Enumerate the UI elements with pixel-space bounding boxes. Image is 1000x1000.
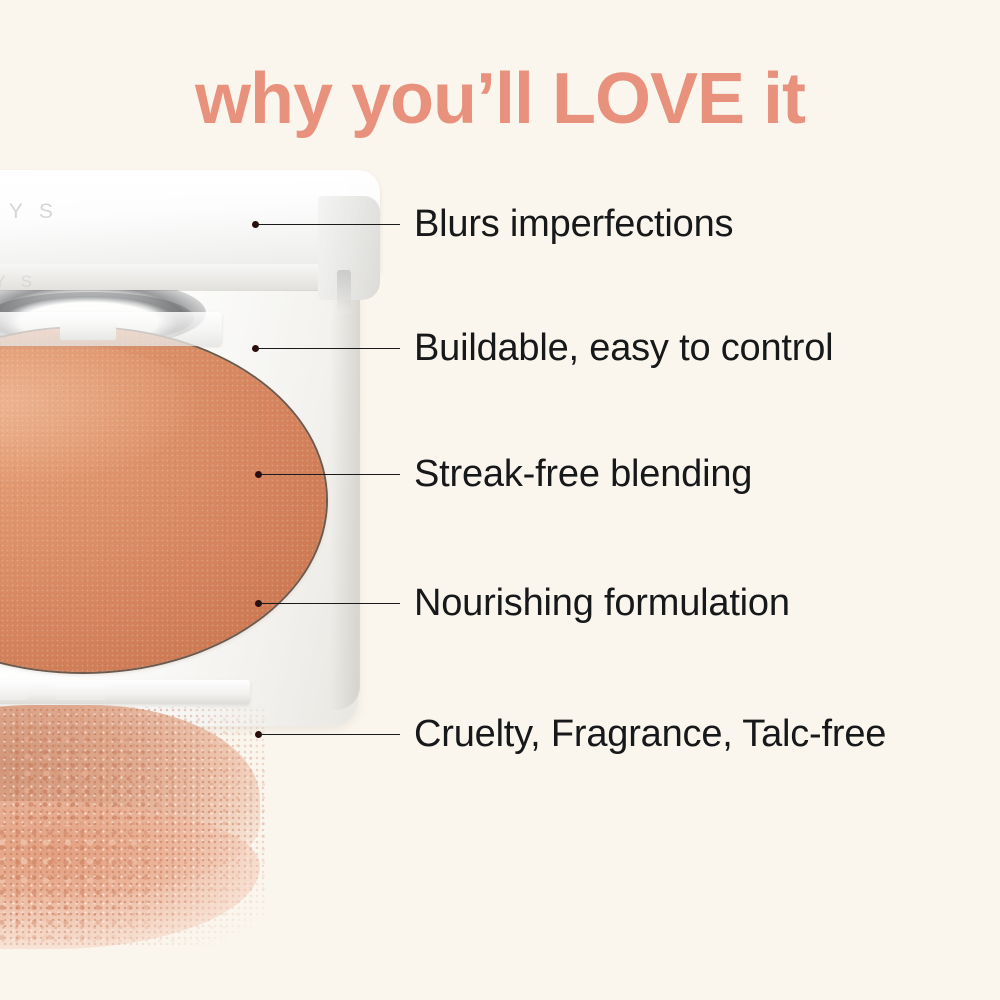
infographic-canvas: why you’ll LOVE it HALEYS HALEYS xyxy=(0,0,1000,1000)
compact-bottom-lip-notch xyxy=(55,684,105,700)
callout-label: Nourishing formulation xyxy=(414,584,790,622)
lid-gloss-highlight xyxy=(0,176,350,202)
callout-label: Cruelty, Fragrance, Talc-free xyxy=(414,715,886,753)
callout-label: Streak-free blending xyxy=(414,455,752,493)
powder-swatch-crumbs-top xyxy=(10,707,200,827)
brand-emboss-text: HALEYS xyxy=(0,200,250,224)
callout-leader-line xyxy=(255,348,400,349)
compact-bottom-lip xyxy=(0,680,250,704)
callout-label: Buildable, easy to control xyxy=(414,329,833,367)
callout-leader-line xyxy=(258,603,400,604)
callout-leader-line xyxy=(255,224,400,225)
compact-bottom-lip-notch-left xyxy=(0,684,28,700)
callout-label: Blurs imperfections xyxy=(414,205,733,243)
compact-lip-tab xyxy=(60,320,116,340)
powder-swatch-crumbs-bottom xyxy=(0,825,150,945)
compact-base-shadow xyxy=(330,280,360,710)
callout-leader-line xyxy=(258,474,400,475)
page-title: why you’ll LOVE it xyxy=(0,62,1000,138)
product-image: HALEYS HALEYS xyxy=(0,160,400,1000)
callout-leader-line xyxy=(258,734,400,735)
lid-right-face-highlight xyxy=(337,270,351,314)
brand-emboss-reflection-text: HALEYS xyxy=(0,272,250,292)
powder-swatch xyxy=(0,705,320,955)
